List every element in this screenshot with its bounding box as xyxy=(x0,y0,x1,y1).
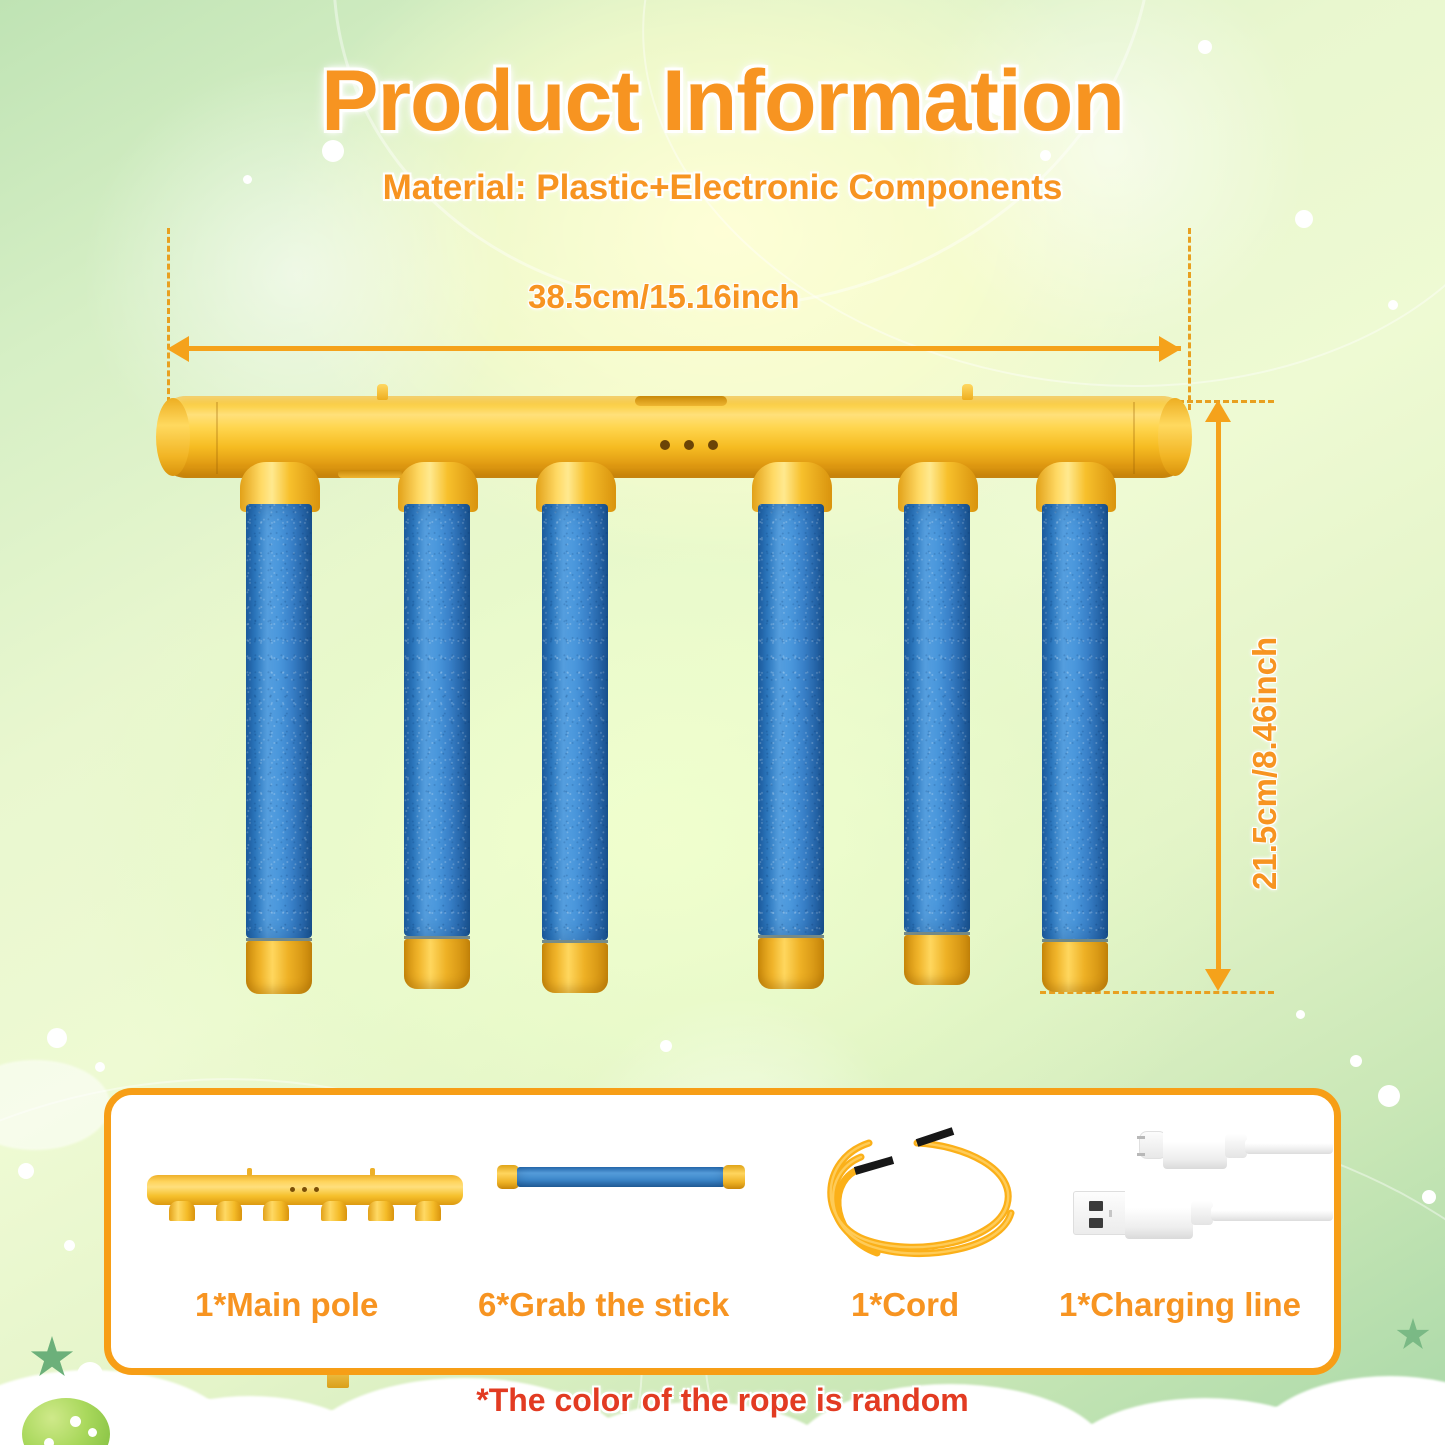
pole-switch-slot xyxy=(635,396,727,406)
pole-bottom-slot xyxy=(338,470,402,478)
accessories-panel: 1*Main pole 6*Grab the stick 1*Cord 1*Ch… xyxy=(104,1088,1341,1375)
accessory-label-0: 1*Main pole xyxy=(195,1286,378,1324)
grab-stick-5 xyxy=(904,504,970,982)
cord-icon xyxy=(811,1113,1031,1273)
grab-stick-6 xyxy=(1042,504,1108,990)
grab-stick-1 xyxy=(246,504,312,994)
pole-nub-left-icon xyxy=(377,384,388,400)
accessory-label-3: 1*Charging line xyxy=(1059,1286,1301,1324)
usb-a-connector xyxy=(1073,1191,1129,1235)
grab-stick-2 xyxy=(404,504,470,984)
product-information-page: Product Information Material: Plastic+El… xyxy=(0,0,1445,1445)
led-indicator-3 xyxy=(708,440,718,450)
grab-stick-4 xyxy=(758,504,824,986)
grab-stick-icon xyxy=(497,1157,747,1197)
accessory-label-1: 6*Grab the stick xyxy=(478,1286,729,1324)
led-indicator-2 xyxy=(684,440,694,450)
rope-color-note: *The color of the rope is random xyxy=(0,1382,1445,1419)
pole-led-indicators xyxy=(660,440,718,450)
main-pole-icon xyxy=(139,1151,469,1221)
grab-stick-3 xyxy=(542,504,608,988)
accessory-label-2: 1*Cord xyxy=(851,1286,959,1324)
pole-nub-right-icon xyxy=(962,384,973,400)
charging-line-icon xyxy=(1051,1121,1331,1271)
led-indicator-1 xyxy=(660,440,670,450)
